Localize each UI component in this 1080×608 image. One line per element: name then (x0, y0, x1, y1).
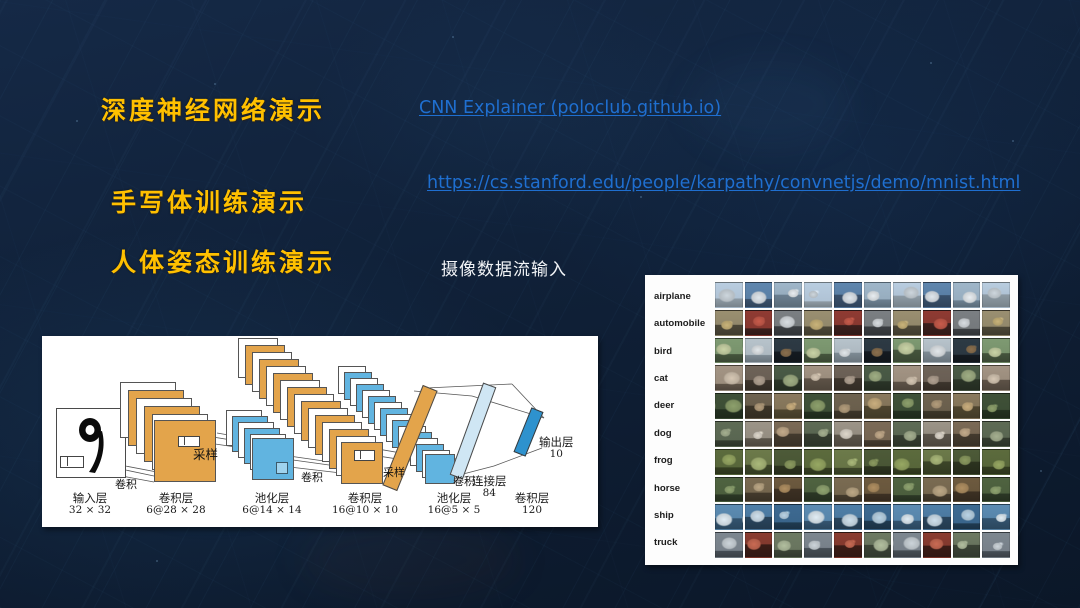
cifar-thumbnail (953, 282, 981, 308)
cifar10-dataset-image: airplane automobile bird cat deer dog fr… (645, 275, 1018, 565)
cifar-thumbnail (774, 393, 802, 419)
cifar-class-label: ship (654, 511, 713, 521)
cifar-thumbnail (774, 338, 802, 364)
input-digit-9-glyph (68, 412, 114, 478)
slide-canvas: 深度神经网络演示 CNN Explainer (poloclub.github.… (0, 0, 1080, 608)
cifar-thumbnail (774, 310, 802, 336)
cifar-thumbnail (774, 365, 802, 391)
cifar-thumbnail (982, 282, 1010, 308)
cifar-thumbnail (923, 477, 951, 503)
pool1-patch-marker (276, 462, 288, 474)
cifar-thumbnail (715, 310, 743, 336)
cifar-thumbnail (804, 504, 832, 530)
cifar-thumbnail (982, 532, 1010, 558)
cifar-thumbnail (953, 393, 981, 419)
cifar-thumbnail (745, 532, 773, 558)
cifar-thumbnail (953, 449, 981, 475)
cifar-thumbnail (893, 504, 921, 530)
cifar-class-label: automobile (654, 319, 713, 329)
cifar-class-label: bird (654, 347, 713, 357)
cifar-sample-grid (713, 275, 1018, 565)
texture-spark (1040, 470, 1042, 472)
cifar-thumbnail (804, 532, 832, 558)
op-label-pool-2: 采样 (383, 464, 405, 480)
texture-spark (214, 83, 216, 85)
cifar-thumbnail (982, 338, 1010, 364)
cifar-thumbnail (893, 365, 921, 391)
cifar-class-label: horse (654, 484, 713, 494)
op-label-conv-2: 卷积 (301, 469, 323, 485)
cifar-thumbnail (715, 282, 743, 308)
cifar-thumbnail (715, 365, 743, 391)
cifar-thumbnail (804, 421, 832, 447)
cifar-thumbnail (864, 338, 892, 364)
cifar-thumbnail (715, 393, 743, 419)
cifar-thumbnail (982, 449, 1010, 475)
cnn-caption-fc120-shape: 120 (494, 505, 570, 517)
cifar-thumbnail (864, 532, 892, 558)
cnn-caption-pool1-name: 池化层 (226, 492, 318, 505)
cifar-thumbnail (715, 421, 743, 447)
heading-human-pose-training-demo: 人体姿态训练演示 (111, 243, 335, 279)
link-convnetjs-mnist[interactable]: https://cs.stanford.edu/people/karpathy/… (427, 172, 867, 196)
heading-deep-neural-network-demo: 深度神经网络演示 (101, 91, 325, 127)
cifar-thumbnail (804, 282, 832, 308)
conv2-patch-marker (354, 450, 375, 461)
cifar-thumbnail (864, 365, 892, 391)
cifar-thumbnail (804, 338, 832, 364)
cnn-caption-input-shape: 32 × 32 (50, 505, 130, 517)
cifar-thumbnail (715, 504, 743, 530)
texture-spark (930, 62, 932, 64)
cifar-class-label: cat (654, 374, 713, 384)
cifar-thumbnail (953, 365, 981, 391)
cifar-thumbnail (923, 310, 951, 336)
cifar-thumbnail (982, 310, 1010, 336)
cifar-thumbnail (715, 532, 743, 558)
cifar-thumbnail (834, 393, 862, 419)
cifar-thumbnail (864, 477, 892, 503)
cifar-thumbnail (774, 532, 802, 558)
cifar-thumbnail (774, 449, 802, 475)
cifar-thumbnail (834, 449, 862, 475)
cifar-thumbnail (953, 532, 981, 558)
cifar-thumbnail (982, 365, 1010, 391)
cifar-thumbnail (745, 477, 773, 503)
cnn-caption-conv2-shape: 16@10 × 10 (316, 505, 414, 517)
cnn-caption-pool2: 池化层 16@5 × 5 (410, 492, 498, 517)
cifar-thumbnail (745, 310, 773, 336)
cifar-thumbnail (745, 449, 773, 475)
cifar-class-label: frog (654, 456, 713, 466)
cnn-caption-output-layer: 输出层 10 (539, 436, 574, 461)
ambient-glow (300, 520, 520, 600)
texture-spark (76, 120, 78, 122)
cifar-thumbnail (834, 477, 862, 503)
cnn-caption-fc120-name: 卷积层 (494, 492, 570, 505)
cifar-thumbnail (923, 365, 951, 391)
cifar-thumbnail (864, 310, 892, 336)
heading-row-1: 深度神经网络演示 (101, 91, 325, 127)
cifar-thumbnail (804, 365, 832, 391)
cifar-thumbnail (774, 504, 802, 530)
cifar-thumbnail (923, 393, 951, 419)
cifar-thumbnail (982, 504, 1010, 530)
cifar-thumbnail (982, 393, 1010, 419)
cnn-caption-fc120: 卷积层 120 (494, 492, 570, 517)
cnn-caption-input-name: 输入层 (50, 492, 130, 505)
cifar-thumbnail (715, 449, 743, 475)
cifar-thumbnail (953, 310, 981, 336)
cifar-thumbnail (953, 421, 981, 447)
heading-handwriting-training-demo: 手写体训练演示 (111, 183, 307, 219)
cifar-thumbnail (774, 421, 802, 447)
cifar-thumbnail (774, 282, 802, 308)
cifar-thumbnail (745, 365, 773, 391)
cifar-thumbnail (893, 310, 921, 336)
conv1-patch-divider (184, 436, 185, 445)
cifar-thumbnail (893, 532, 921, 558)
cifar-thumbnail (834, 338, 862, 364)
cifar-thumbnail (982, 421, 1010, 447)
cifar-thumbnail (864, 282, 892, 308)
texture-spark (1012, 140, 1014, 142)
cnn-architecture-image: 卷积 采样 卷积 采样 卷积 输出层 10 连接层 84 输入层 32 × 32… (42, 336, 598, 527)
cifar-thumbnail (834, 365, 862, 391)
cifar-thumbnail (804, 449, 832, 475)
cifar-thumbnail (804, 477, 832, 503)
link-cnn-explainer[interactable]: CNN Explainer (poloclub.github.io) (419, 98, 721, 118)
cnn-caption-conv1: 卷积层 6@28 × 28 (130, 492, 222, 517)
texture-spark (640, 196, 642, 198)
cifar-thumbnail (745, 282, 773, 308)
cifar-class-label: airplane (654, 292, 713, 302)
cnn-caption-pool2-name: 池化层 (410, 492, 498, 505)
conv2-patch-divider (360, 450, 361, 459)
cifar-thumbnail (804, 393, 832, 419)
cifar-thumbnail (834, 310, 862, 336)
cifar-thumbnail (715, 338, 743, 364)
cifar-thumbnail (923, 282, 951, 308)
cifar-thumbnail (745, 504, 773, 530)
cifar-thumbnail (953, 338, 981, 364)
cifar-class-label-column: airplane automobile bird cat deer dog fr… (645, 275, 713, 565)
cnn-caption-output-name: 输出层 (539, 436, 574, 449)
cifar-thumbnail (774, 477, 802, 503)
cifar-thumbnail (745, 421, 773, 447)
cnn-caption-conv2: 卷积层 16@10 × 10 (316, 492, 414, 517)
cifar-thumbnail (745, 338, 773, 364)
cifar-thumbnail (893, 421, 921, 447)
cifar-class-label: truck (654, 538, 713, 548)
cifar-thumbnail (923, 421, 951, 447)
cnn-caption-conv2-name: 卷积层 (316, 492, 414, 505)
cifar-thumbnail (834, 282, 862, 308)
cifar-thumbnail (893, 393, 921, 419)
cifar-thumbnail (745, 393, 773, 419)
note-camera-stream-input: 摄像数据流输入 (441, 255, 567, 280)
cifar-thumbnail (804, 310, 832, 336)
cnn-caption-conv1-name: 卷积层 (130, 492, 222, 505)
op-label-pool-1: 采样 (193, 444, 218, 463)
texture-spark (156, 560, 158, 562)
cnn-caption-input: 输入层 32 × 32 (50, 492, 130, 517)
cifar-thumbnail (893, 282, 921, 308)
input-receptive-field-divider (67, 456, 68, 466)
cifar-thumbnail (864, 393, 892, 419)
cnn-caption-pool2-shape: 16@5 × 5 (410, 505, 498, 517)
cifar-thumbnail (864, 449, 892, 475)
cifar-thumbnail (982, 477, 1010, 503)
cnn-caption-conv1-shape: 6@28 × 28 (130, 505, 222, 517)
cifar-thumbnail (834, 532, 862, 558)
cifar-thumbnail (923, 532, 951, 558)
cnn-caption-output-shape: 10 (539, 449, 574, 461)
cifar-class-label: deer (654, 401, 713, 411)
cifar-thumbnail (953, 504, 981, 530)
cifar-thumbnail (893, 338, 921, 364)
cifar-thumbnail (864, 504, 892, 530)
cifar-thumbnail (834, 504, 862, 530)
cifar-thumbnail (923, 504, 951, 530)
cifar-thumbnail (923, 449, 951, 475)
op-label-conv-1: 卷积 (115, 476, 137, 492)
cifar-thumbnail (893, 449, 921, 475)
cifar-thumbnail (834, 421, 862, 447)
cifar-class-label: dog (654, 429, 713, 439)
cifar-thumbnail (953, 477, 981, 503)
texture-spark (452, 36, 454, 38)
cifar-thumbnail (923, 338, 951, 364)
cifar-thumbnail (715, 477, 743, 503)
cnn-caption-pool1-shape: 6@14 × 14 (226, 505, 318, 517)
cifar-thumbnail (864, 421, 892, 447)
cnn-caption-fc84-name: 连接层 (472, 475, 507, 488)
cifar-thumbnail (893, 477, 921, 503)
cnn-caption-pool1: 池化层 6@14 × 14 (226, 492, 318, 517)
input-receptive-field-marker (60, 456, 84, 468)
